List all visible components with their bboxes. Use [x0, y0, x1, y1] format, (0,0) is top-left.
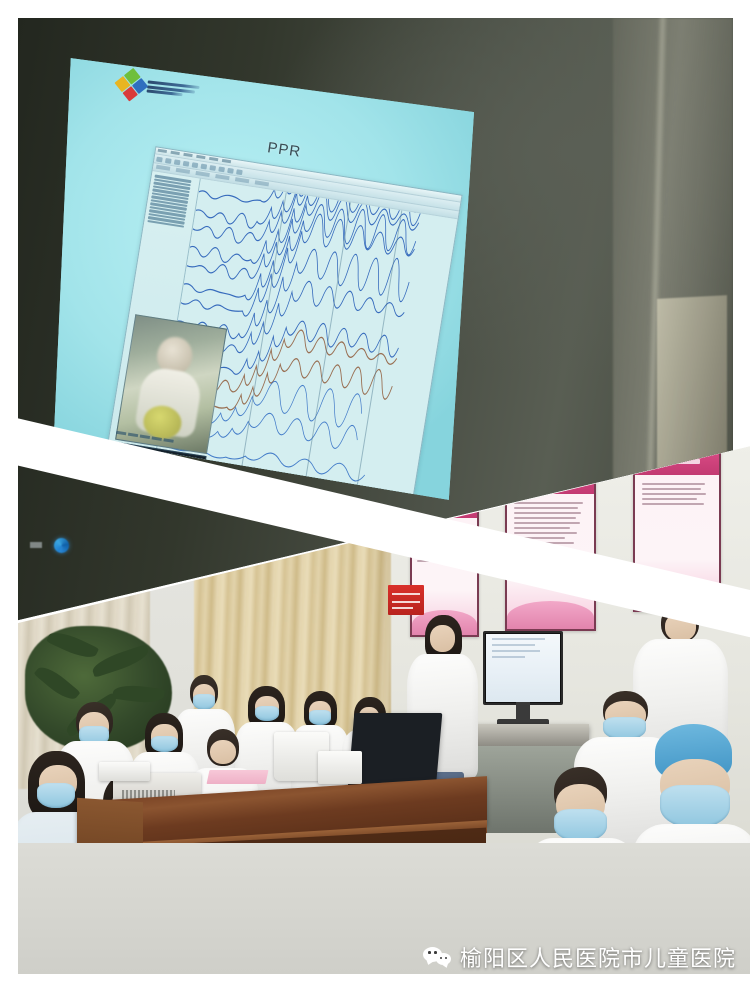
monitor-screen — [485, 633, 562, 702]
desktop-monitor — [483, 631, 564, 704]
wechat-watermark: 榆阳区人民医院市儿童医院 — [423, 941, 736, 973]
white-container-2 — [318, 751, 362, 784]
collage-canvas: PPR — [0, 0, 750, 989]
logo-wordmark — [147, 80, 200, 98]
pink-papers — [207, 770, 269, 784]
projector-cover — [99, 762, 150, 782]
slide-title: PPR — [267, 140, 303, 161]
red-wall-sign — [388, 585, 425, 615]
desktop-icon-label — [30, 542, 42, 548]
wechat-icon — [423, 946, 451, 968]
watermark-account-name: 榆阳区人民医院市儿童医院 — [460, 941, 736, 973]
logo-pinwheel-icon — [114, 67, 148, 101]
browser-icon — [54, 538, 69, 553]
hospital-logo — [118, 71, 200, 103]
